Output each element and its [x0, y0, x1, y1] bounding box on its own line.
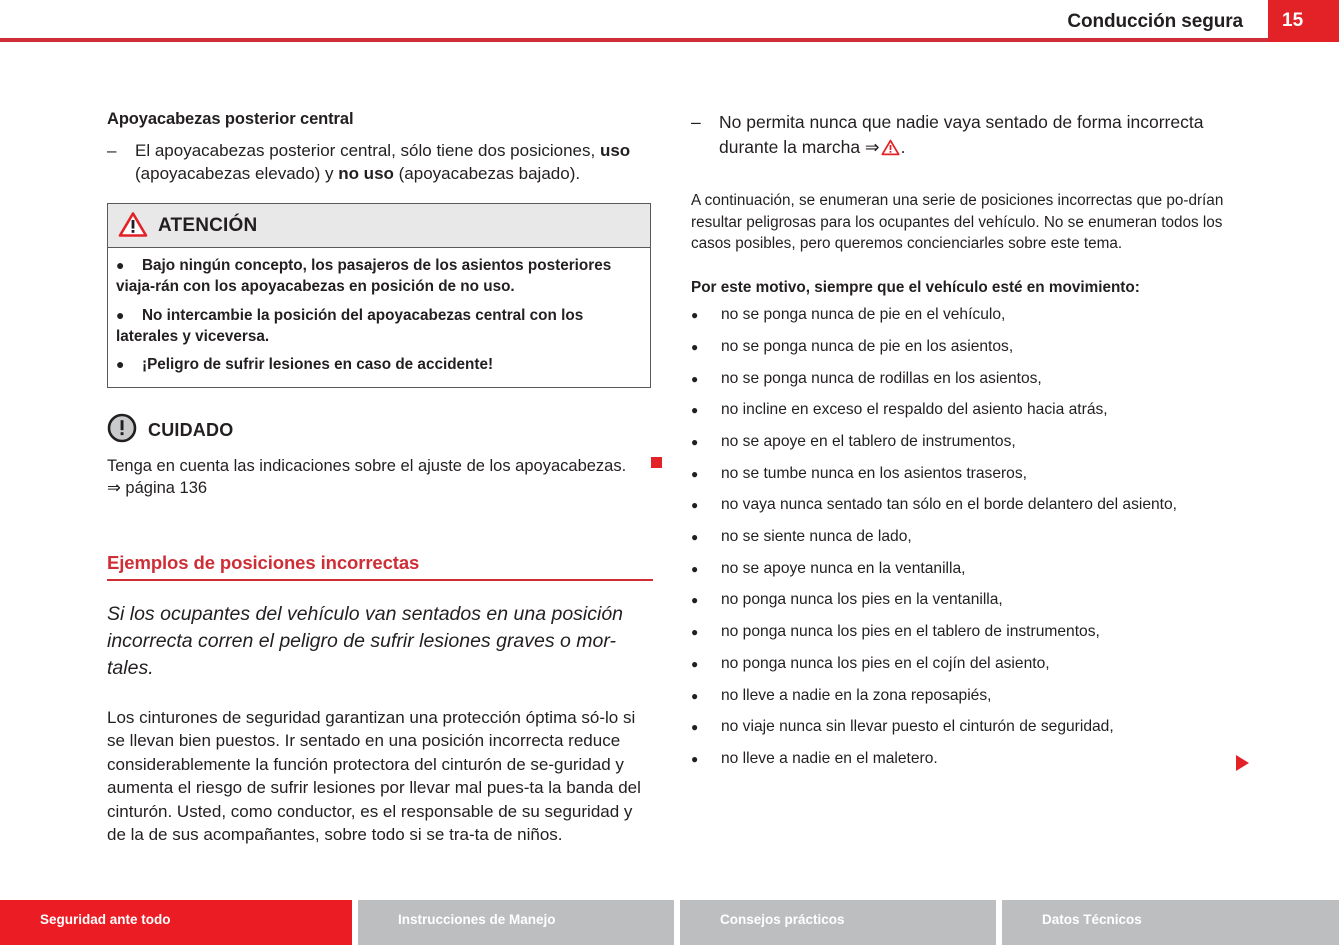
footer-tab-label: Consejos prácticos	[680, 900, 845, 927]
attention-box-title: ATENCIÓN	[158, 215, 257, 237]
header-red-rule	[0, 38, 1268, 42]
footer-tab-instrucciones[interactable]: Instrucciones de Manejo	[358, 900, 674, 945]
bullet-marker: ●	[691, 403, 721, 417]
list-item: ●no se tumbe nunca en los asientos trase…	[691, 465, 1249, 484]
list-item: ●no lleve a nadie en el maletero.	[691, 750, 1249, 769]
section-heading-wrap: Ejemplos de posiciones incorrectas	[107, 552, 653, 581]
attention-item: ●¡Peligro de sufrir lesiones en caso de …	[116, 355, 642, 376]
caution-title: CUIDADO	[148, 420, 233, 441]
dash-text-after: .	[901, 137, 906, 157]
dash-marker: –	[107, 139, 135, 185]
bullet-marker: ●	[691, 435, 721, 449]
end-of-section-square-marker	[651, 457, 662, 468]
bullet-marker: ●	[691, 720, 721, 734]
page-title: Conducción segura	[1067, 11, 1243, 33]
list-item-text: no se apoye nunca en la ventanilla,	[721, 560, 965, 579]
bullet-marker: ●	[691, 657, 721, 671]
caution-reference: ⇒ página 136	[107, 478, 653, 500]
list-item: ●no incline en exceso el respaldo del as…	[691, 401, 1249, 420]
dash-item-text: No permita nunca que nadie vaya sentado …	[719, 110, 1249, 162]
manual-page: Conducción segura 15 Apoyacabezas poster…	[0, 0, 1339, 945]
list-item-text: no se ponga nunca de pie en los asientos…	[721, 338, 1013, 357]
bullet-marker: ●	[116, 306, 142, 325]
bullet-marker: ●	[691, 625, 721, 639]
attention-item: ●Bajo ningún concepto, los pasajeros de …	[116, 256, 642, 298]
dash-list-item: – No permita nunca que nadie vaya sentad…	[691, 110, 1249, 162]
list-item-text: no se apoye en el tablero de instrumento…	[721, 433, 1016, 452]
warning-triangle-icon	[881, 138, 900, 163]
header-rule-right	[1268, 41, 1339, 42]
section-red-rule	[107, 579, 653, 581]
bullet-marker: ●	[691, 752, 721, 766]
dash-list-item: – El apoyacabezas posterior central, sól…	[107, 139, 653, 185]
bullet-marker: ●	[691, 372, 721, 386]
section-heading: Ejemplos de posiciones incorrectas	[107, 552, 653, 579]
bullet-marker: ●	[691, 308, 721, 322]
list-item-text: no se siente nunca de lado,	[721, 528, 912, 547]
footer-tab-label: Seguridad ante todo	[0, 900, 171, 927]
right-paragraph: A continuación, se enumeran una serie de…	[691, 190, 1249, 255]
attention-box-header: ATENCIÓN	[108, 204, 650, 248]
right-column: – No permita nunca que nadie vaya sentad…	[691, 110, 1249, 782]
list-item-text: no se ponga nunca de pie en el vehículo,	[721, 306, 1005, 325]
list-item-text: no viaje nunca sin llevar puesto el cint…	[721, 718, 1114, 737]
dash-marker: –	[691, 110, 719, 162]
footer-tabs: Seguridad ante todo Instrucciones de Man…	[0, 900, 1339, 945]
list-item: ●no ponga nunca los pies en el cojín del…	[691, 655, 1249, 674]
bullet-marker: ●	[691, 689, 721, 703]
bullet-marker: ●	[116, 355, 142, 374]
attention-item-text: ¡Peligro de sufrir lesiones en caso de a…	[142, 356, 493, 373]
subsection-heading: Apoyacabezas posterior central	[107, 110, 653, 129]
continue-arrow-marker	[1236, 755, 1249, 771]
caution-text: Tenga en cuenta las indicaciones sobre e…	[107, 456, 653, 478]
bullet-marker: ●	[691, 530, 721, 544]
attention-warning-box: ATENCIÓN ●Bajo ningún concepto, los pasa…	[107, 203, 651, 388]
footer-tab-label: Instrucciones de Manejo	[358, 900, 556, 927]
list-item-text: no incline en exceso el respaldo del asi…	[721, 401, 1108, 420]
list-item-text: no se ponga nunca de rodillas en los asi…	[721, 370, 1042, 389]
footer-tab-datos[interactable]: Datos Técnicos	[1002, 900, 1339, 945]
dash-item-text: El apoyacabezas posterior central, sólo …	[135, 139, 653, 185]
list-item-text: no se tumbe nunca en los asientos traser…	[721, 465, 1027, 484]
caution-header: CUIDADO	[107, 412, 653, 448]
list-item-text: no vaya nunca sentado tan sólo en el bor…	[721, 496, 1177, 515]
footer-tab-consejos[interactable]: Consejos prácticos	[680, 900, 996, 945]
list-heading: Por este motivo, siempre que el vehículo…	[691, 279, 1249, 297]
bullet-marker: ●	[116, 256, 142, 275]
list-item: ●no viaje nunca sin llevar puesto el cin…	[691, 718, 1249, 737]
footer-tab-seguridad[interactable]: Seguridad ante todo	[0, 900, 352, 945]
list-item-text: no ponga nunca los pies en el cojín del …	[721, 655, 1050, 674]
list-item-text: no ponga nunca los pies en la ventanilla…	[721, 591, 1003, 610]
list-item: ●no se ponga nunca de pie en los asiento…	[691, 338, 1249, 357]
list-item: ●no lleve a nadie en la zona reposapiés,	[691, 687, 1249, 706]
list-item: ●no se apoye nunca en la ventanilla,	[691, 560, 1249, 579]
exclamation-circle-icon	[107, 413, 137, 448]
dash-text-part2: (apoyacabezas elevado) y	[135, 164, 338, 183]
footer-tab-label: Datos Técnicos	[1002, 900, 1142, 927]
bullet-marker: ●	[691, 340, 721, 354]
page-number: 15	[1282, 10, 1303, 32]
list-item: ●no ponga nunca los pies en el tablero d…	[691, 623, 1249, 642]
attention-item-text: Bajo ningún concepto, los pasajeros de l…	[116, 257, 611, 295]
bullet-marker: ●	[691, 562, 721, 576]
list-item: ●no se siente nunca de lado,	[691, 528, 1249, 547]
bullet-marker: ●	[691, 498, 721, 512]
list-item: ●no se ponga nunca de pie en el vehículo…	[691, 306, 1249, 325]
attention-box-body: ●Bajo ningún concepto, los pasajeros de …	[108, 248, 650, 387]
page-header: Conducción segura 15	[0, 0, 1339, 41]
incorrect-positions-list: ●no se ponga nunca de pie en el vehículo…	[691, 306, 1249, 769]
section-body-paragraph: Los cinturones de seguridad garantizan u…	[107, 706, 653, 847]
warning-triangle-icon	[118, 211, 148, 243]
bullet-marker: ●	[691, 467, 721, 481]
list-item: ●no vaya nunca sentado tan sólo en el bo…	[691, 496, 1249, 515]
list-item: ●no se ponga nunca de rodillas en los as…	[691, 370, 1249, 389]
dash-text-before: No permita nunca que nadie vaya sentado …	[719, 112, 1203, 157]
dash-text-bold1: uso	[600, 141, 630, 160]
page-number-block: 15	[1268, 0, 1339, 41]
attention-item-text: No intercambie la posición del apoyacabe…	[116, 307, 583, 345]
list-item-text: no lleve a nadie en el maletero.	[721, 750, 938, 769]
left-column: Apoyacabezas posterior central – El apoy…	[107, 110, 653, 847]
section-lead-paragraph: Si los ocupantes del vehículo van sentad…	[107, 601, 653, 682]
list-item-text: no lleve a nadie en la zona reposapiés,	[721, 687, 992, 706]
list-item-text: no ponga nunca los pies en el tablero de…	[721, 623, 1100, 642]
list-item: ●no ponga nunca los pies en la ventanill…	[691, 591, 1249, 610]
attention-item: ●No intercambie la posición del apoyacab…	[116, 306, 642, 348]
list-item: ●no se apoye en el tablero de instrument…	[691, 433, 1249, 452]
bullet-marker: ●	[691, 593, 721, 607]
dash-text-bold2: no uso	[338, 164, 394, 183]
dash-text-part1: El apoyacabezas posterior central, sólo …	[135, 141, 600, 160]
dash-text-part3: (apoyacabezas bajado).	[394, 164, 580, 183]
